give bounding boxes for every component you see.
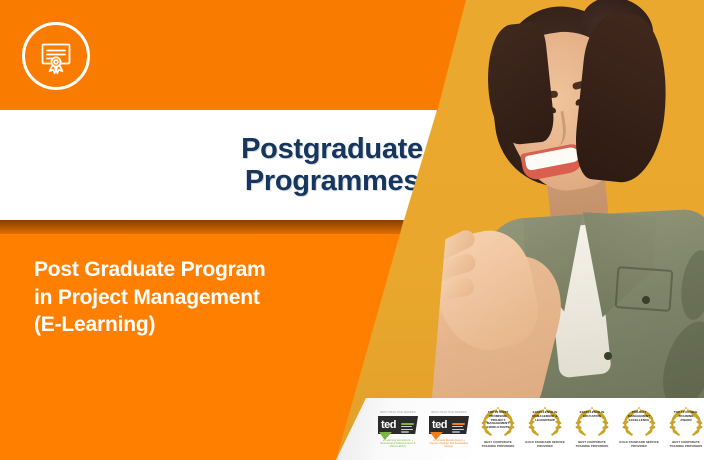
- headline-line-1: Postgraduate: [241, 133, 423, 165]
- laurel-badge-text-2: EXCELLENCE IN MANAGEMENT & LEADERSHIP: [525, 411, 565, 422]
- ted-badge-bars-1: [401, 423, 414, 434]
- ted-badge-bars-2: [452, 423, 465, 434]
- hair-front-left: [482, 21, 556, 147]
- certificate-badge: [22, 22, 90, 90]
- laurel-badge-caption-5: BEST CORPORATE TRAINING PROVIDERS: [666, 441, 704, 448]
- shirt-button-2: [604, 352, 612, 360]
- ted-award-badge-2018: BEST PRACTICE AWARDS ted e-Learning Exce…: [376, 411, 420, 447]
- ted-badge-caption-2: e-Content Development + Content Design a…: [428, 440, 470, 449]
- laurel-badge-caption-2: GOLD STANDARD SERVICE PROVIDER: [525, 441, 565, 448]
- subtitle-line-2: in Project Management: [34, 284, 334, 312]
- presenter-photo: [430, 0, 704, 420]
- course-subtitle: Post Graduate Program in Project Managem…: [34, 256, 334, 339]
- laurel-award-badge-2: EXCELLENCE IN MANAGEMENT & LEADERSHIP GO…: [525, 406, 565, 452]
- laurel-award-badge-5: TOP 10 GLOBAL TRAINING AWARD BEST CORPOR…: [666, 406, 704, 452]
- laurel-badge-text-4: PROJECT MANAGEMENT EXCELLENCE: [619, 411, 659, 422]
- ted-badge-caption-1: e-Learning Excellence + Resourceful Effe…: [377, 440, 419, 449]
- laurel-badge-text-5: TOP 10 GLOBAL TRAINING AWARD: [666, 411, 704, 422]
- headline-line-2: Programmes: [245, 165, 419, 197]
- ted-wordmark-2: ted: [432, 420, 447, 431]
- course-promo-banner: Postgraduate Programmes Post Graduate Pr…: [0, 0, 704, 460]
- ted-badge-top-text-1: BEST PRACTICE AWARDS: [378, 412, 418, 415]
- laurel-badge-text-3: EXCELLENCE IN EDUCATION: [572, 411, 612, 419]
- ted-badge-top-text-2: BEST PRACTICE AWARDS: [429, 412, 469, 415]
- shirt-button-1: [642, 296, 650, 304]
- laurel-badge-text-1: TOP 20 MOST PROMISING PROJECT MANAGEMENT…: [478, 411, 518, 430]
- subtitle-line-3: (E-Learning): [34, 311, 334, 339]
- laurel-badge-caption-1: BEST CORPORATE TRAINING PROVIDERS: [478, 441, 518, 448]
- laurel-badge-caption-3: BEST CORPORATE TRAINING PROVIDERS: [572, 441, 612, 448]
- laurel-award-badge-3: EXCELLENCE IN EDUCATION BEST CORPORATE T…: [572, 406, 612, 452]
- shirt-pocket: [615, 266, 674, 312]
- laurel-badge-caption-4: GOLD STANDARD SERVICE PROVIDER: [619, 441, 659, 448]
- ted-award-badge-2019: BEST PRACTICE AWARDS ted e-Content Devel…: [427, 411, 471, 447]
- laurel-award-badge-4: PROJECT MANAGEMENT EXCELLENCE GOLD STAND…: [619, 406, 659, 452]
- ted-badge-box-1: ted: [378, 416, 418, 434]
- laurel-award-badge-1: TOP 20 MOST PROMISING PROJECT MANAGEMENT…: [478, 406, 518, 452]
- certificate-icon: [36, 36, 76, 76]
- award-badge-strip: BEST PRACTICE AWARDS ted e-Learning Exce…: [336, 398, 704, 460]
- subtitle-line-1: Post Graduate Program: [34, 256, 334, 284]
- ted-badge-box-2: ted: [429, 416, 469, 434]
- ted-wordmark-1: ted: [381, 420, 396, 431]
